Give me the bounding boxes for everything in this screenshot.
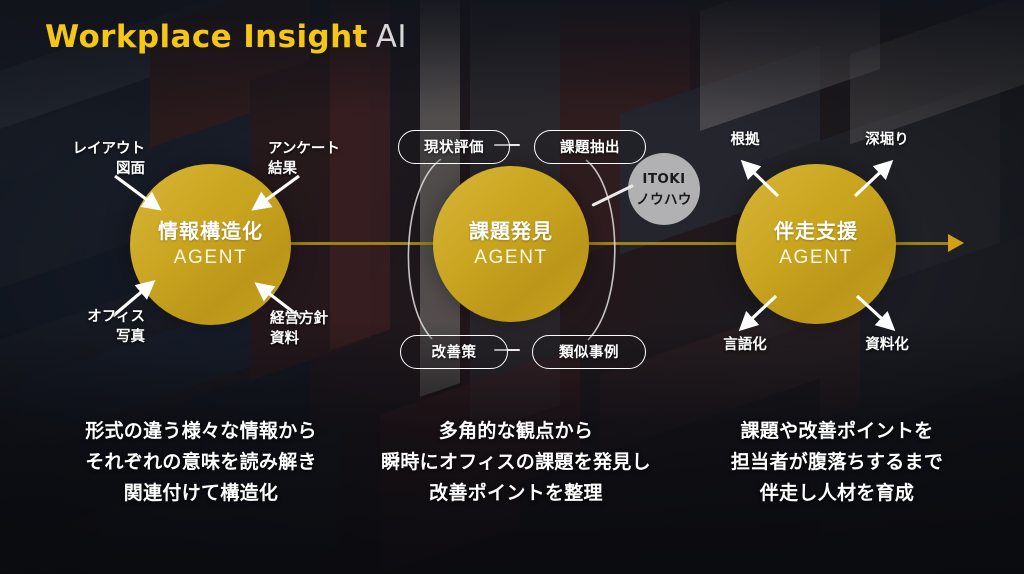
pill-current-assessment[interactable]: 現状評価 [398, 130, 510, 164]
output-label-verbalization: 言語化 [700, 336, 790, 356]
agent-2-label-en: AGENT [474, 247, 547, 269]
pill-issue-extraction[interactable]: 課題抽出 [534, 130, 646, 164]
flow-arrow-head-icon [948, 234, 964, 252]
page-title: Workplace InsightAI [45, 19, 407, 55]
agent-2-label-jp: 課題発見 [469, 220, 553, 242]
agent-3-label-en: AGENT [779, 247, 852, 269]
itoki-label-line1: ITOKI [642, 171, 685, 187]
input-label-layout-drawing: レイアウト 図面 [40, 140, 145, 179]
agent-circle-accompaniment-support[interactable]: 伴走支援 AGENT [736, 164, 896, 324]
slide-canvas: Workplace InsightAI [0, 0, 1024, 574]
title-suffix-ai: AI [376, 19, 407, 55]
caption-issue-discovery: 多角的な観点から 瞬時にオフィスの課題を発見し 改善ポイントを整理 [366, 416, 666, 508]
agent-circle-information-structuring[interactable]: 情報構造化 AGENT [130, 164, 291, 325]
itoki-label-line2: ノウハウ [636, 188, 692, 208]
agent-1-label-jp: 情報構造化 [158, 220, 263, 242]
input-label-policy-document: 経営方針 資料 [270, 310, 380, 349]
pill-similar-cases[interactable]: 類似事例 [532, 335, 646, 369]
output-label-documentation: 資料化 [842, 336, 932, 356]
input-label-office-photo: オフィス 写真 [40, 308, 145, 347]
itoki-knowhow-bubble[interactable]: ITOKI ノウハウ [628, 153, 700, 225]
output-label-deep-dive: 深堀り [842, 131, 932, 151]
agent-3-label-jp: 伴走支援 [774, 220, 858, 242]
agent-circle-issue-discovery[interactable]: 課題発見 AGENT [433, 166, 589, 322]
background-top-gradient [0, 0, 1024, 118]
caption-information-structuring: 形式の違う様々な情報から それぞれの意味を読み解き 関連付けて構造化 [36, 416, 366, 508]
input-label-survey-results: アンケート 結果 [268, 140, 378, 179]
caption-accompaniment-support: 課題や改善ポイントを 担当者が腹落ちするまで 伴走し人材を育成 [672, 416, 1002, 508]
agent-1-label-en: AGENT [174, 247, 247, 269]
pill-improvement-plan[interactable]: 改善策 [400, 335, 508, 369]
title-main: Workplace Insight [45, 19, 368, 55]
output-label-evidence: 根拠 [700, 131, 790, 151]
